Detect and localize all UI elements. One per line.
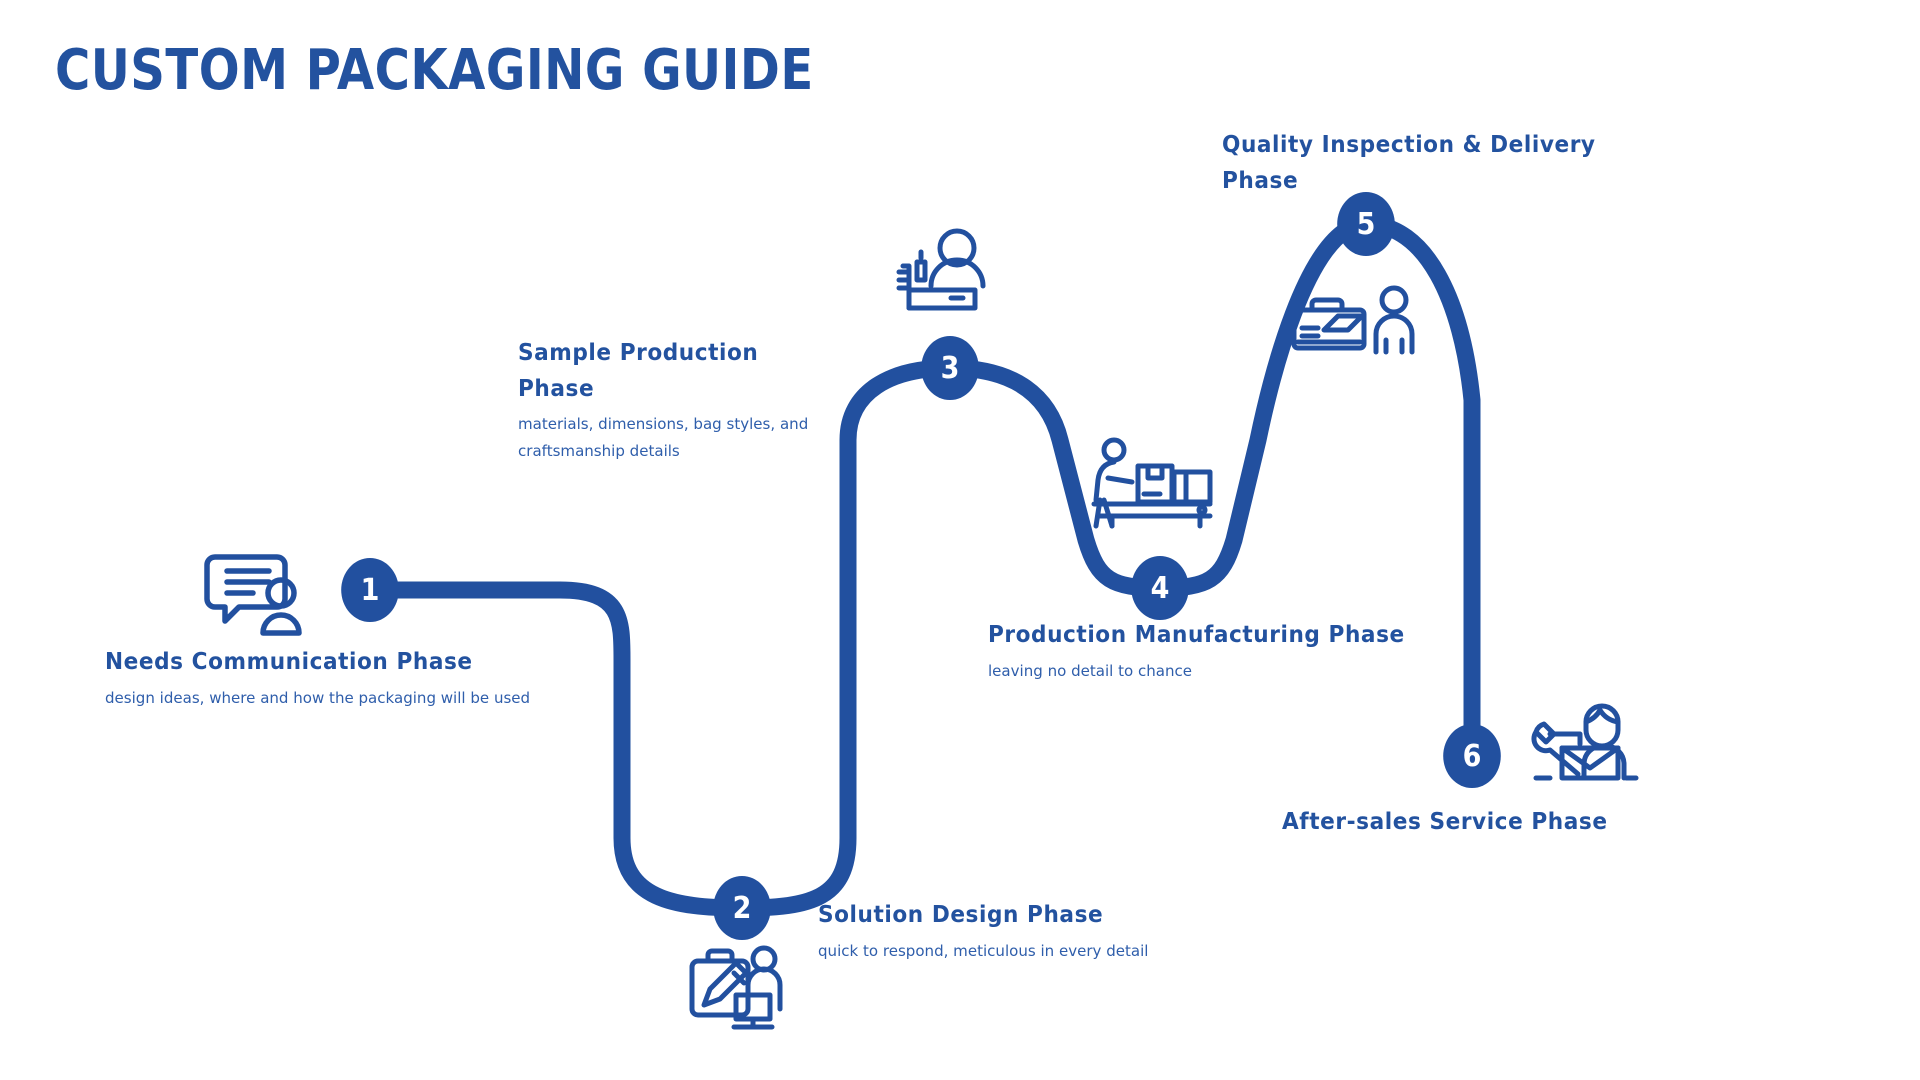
- step-3-icon-wrap: [895, 228, 993, 312]
- clipboard-pencil-designer-icon: [690, 945, 786, 1031]
- step-node-6[interactable]: 6: [1443, 724, 1501, 788]
- worker-printing-machine-icon: [895, 228, 993, 312]
- step-number-6: 6: [1463, 739, 1482, 774]
- step-number-2: 2: [733, 891, 752, 926]
- step-number-4: 4: [1151, 571, 1170, 606]
- step-1-label: Needs Communication Phase design ideas, …: [105, 645, 575, 712]
- step-3-label: Sample Production Phase materials, dimen…: [518, 336, 848, 466]
- step-6-icon-wrap: [1522, 700, 1648, 786]
- support-agent-wrench-mail-icon: [1522, 700, 1648, 786]
- step-node-3[interactable]: 3: [921, 336, 979, 400]
- step-number-5: 5: [1357, 207, 1376, 242]
- step-4-subtitle: leaving no detail to chance: [988, 658, 1454, 685]
- step-number-3: 3: [941, 351, 960, 386]
- step-3-subtitle: materials, dimensions, bag styles, and c…: [518, 411, 838, 465]
- step-2-icon-wrap: [690, 945, 786, 1031]
- step-2-subtitle: quick to respond, meticulous in every de…: [818, 938, 1167, 965]
- step-5-title: Quality Inspection & Delivery Phase: [1222, 128, 1626, 199]
- step-3-title: Sample Production Phase: [518, 336, 828, 407]
- conveyor-belt-worker-icon: [1086, 438, 1216, 532]
- step-number-1: 1: [361, 573, 380, 608]
- step-6-label: After-sales Service Phase: [1282, 805, 1682, 841]
- step-1-subtitle: design ideas, where and how the packagin…: [105, 685, 561, 712]
- step-node-1[interactable]: 1: [341, 558, 399, 622]
- step-1-title: Needs Communication Phase: [105, 645, 547, 681]
- step-5-label: Quality Inspection & Delivery Phase: [1222, 128, 1652, 199]
- step-6-title: After-sales Service Phase: [1282, 805, 1658, 841]
- step-2-label: Solution Design Phase quick to respond, …: [818, 898, 1178, 965]
- chat-bubble-person-icon: [207, 545, 305, 637]
- step-5-icon-wrap: [1294, 286, 1418, 362]
- step-4-icon-wrap: [1086, 438, 1216, 532]
- step-2-title: Solution Design Phase: [818, 898, 1156, 934]
- step-4-label: Production Manufacturing Phase leaving n…: [988, 618, 1468, 685]
- step-node-4[interactable]: 4: [1131, 556, 1189, 620]
- package-inspector-icon: [1294, 286, 1418, 362]
- step-node-2[interactable]: 2: [713, 876, 771, 940]
- step-4-title: Production Manufacturing Phase: [988, 618, 1439, 654]
- step-node-5[interactable]: 5: [1337, 192, 1395, 256]
- step-1-icon-wrap: [207, 545, 305, 637]
